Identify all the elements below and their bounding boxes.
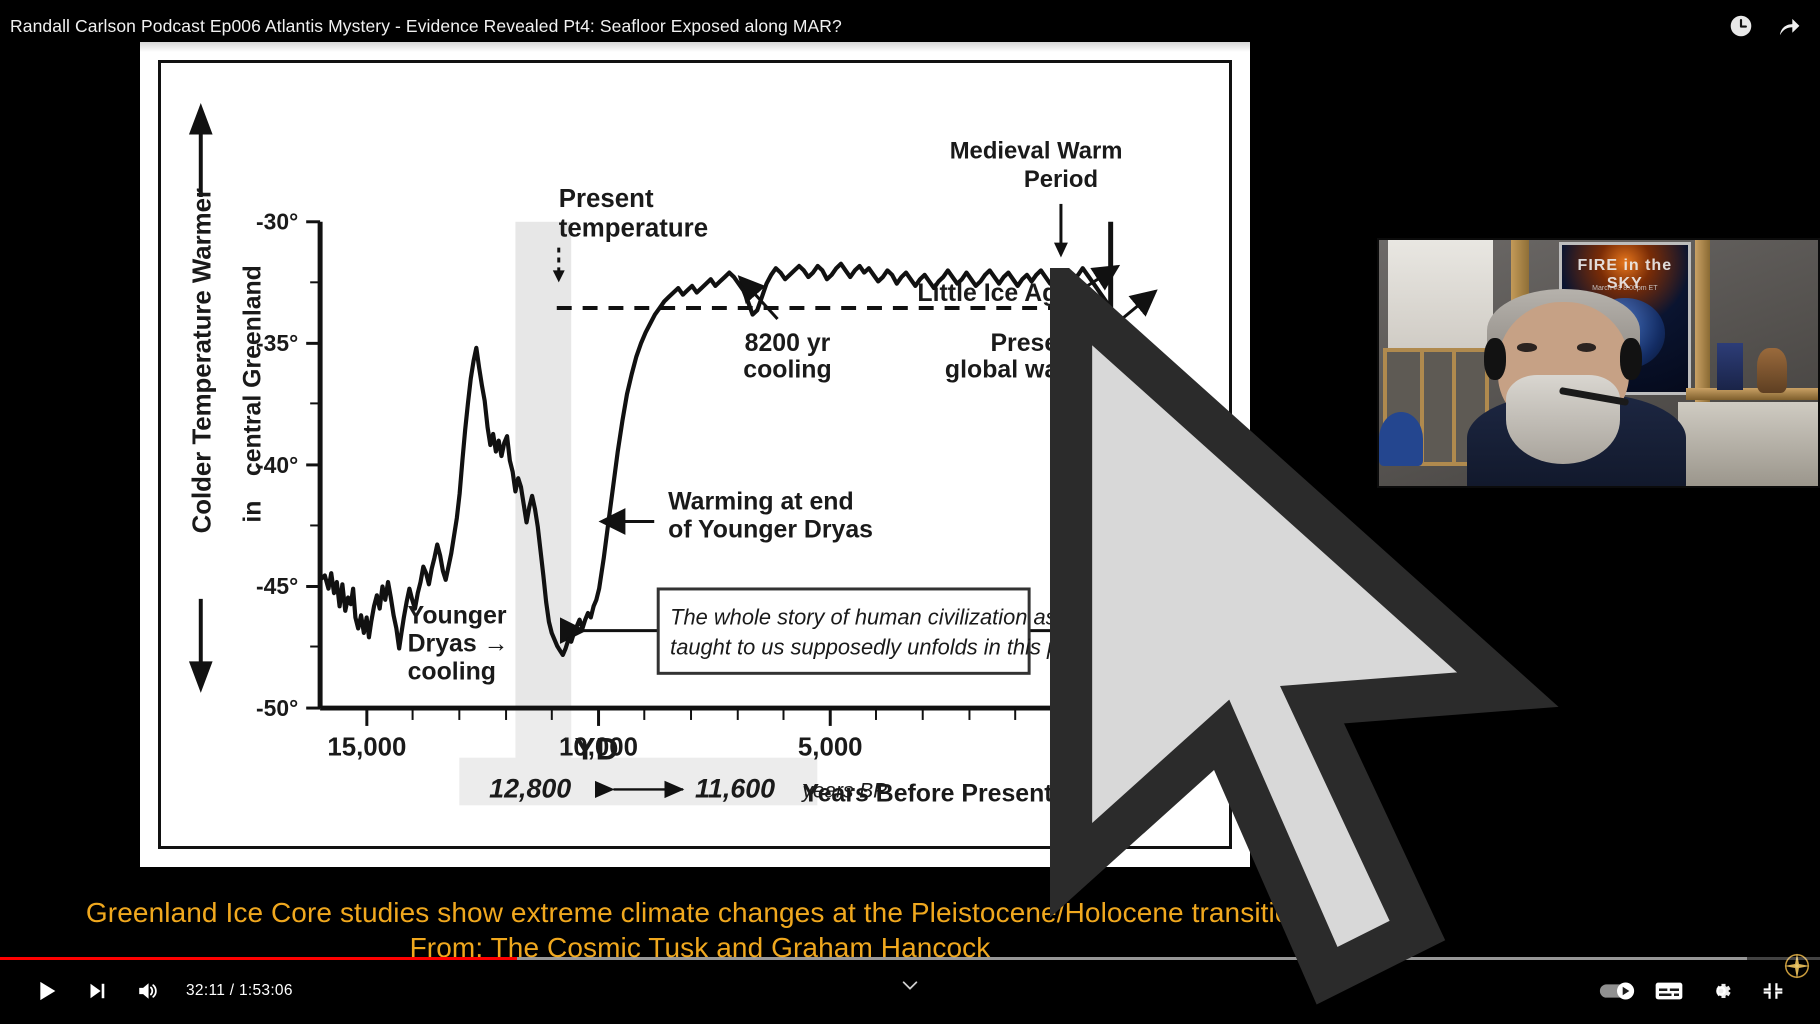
controls-right bbox=[1594, 968, 1796, 1014]
cooling-8200-line2: cooling bbox=[743, 357, 831, 384]
medieval-warm-period-annotation: Medieval Warm Period bbox=[950, 137, 1123, 257]
present-temperature-line1: Present bbox=[559, 185, 654, 213]
control-row: 32:11 / 1:53:06 bbox=[0, 966, 1820, 1016]
y-tick-label: -45° bbox=[256, 573, 298, 599]
warming-yd-line1: Warming at end bbox=[668, 489, 854, 516]
colder-arrow-icon bbox=[192, 599, 210, 687]
watch-later-icon[interactable] bbox=[1728, 13, 1754, 39]
caption-line-1: Greenland Ice Core studies show extreme … bbox=[0, 895, 1400, 930]
warmer-arrow-icon bbox=[192, 109, 210, 197]
volume-button[interactable] bbox=[124, 968, 170, 1014]
y-tick-label: -50° bbox=[256, 695, 298, 721]
settings-button[interactable] bbox=[1698, 968, 1744, 1014]
cooling-8200-line1: 8200 yr bbox=[745, 330, 831, 357]
present-temperature-line2: temperature bbox=[559, 215, 708, 243]
pgw-line2: global warming bbox=[945, 357, 1127, 384]
y-axis-title-in: in bbox=[239, 501, 266, 523]
webcam-scene: FIRE in the SKY March #3 8:00pm ET bbox=[1379, 240, 1818, 486]
mwp-line1: Medieval Warm bbox=[950, 137, 1123, 164]
subtitles-button[interactable] bbox=[1646, 968, 1692, 1014]
y-axis-title-group: Colder Temperature Warmer central Greenl… bbox=[189, 109, 267, 688]
headphone-left-icon bbox=[1484, 338, 1506, 380]
y-axis-title-main: Colder Temperature Warmer bbox=[189, 188, 217, 533]
civ-note-line1: The whole story of human civilization as… bbox=[670, 605, 1095, 630]
share-icon[interactable] bbox=[1776, 13, 1802, 39]
pgw-line1: Present bbox=[990, 330, 1081, 357]
presentation-slide: -30° -35° -40° -45° -50° bbox=[140, 42, 1250, 867]
yd-cooling-line3: cooling bbox=[408, 658, 496, 685]
headphone-right-icon bbox=[1620, 338, 1642, 380]
x-tick-label: 5,000 bbox=[798, 734, 863, 762]
civilization-note-box: The whole story of human civilization as… bbox=[584, 589, 1114, 673]
controls-left: 32:11 / 1:53:06 bbox=[24, 968, 293, 1014]
8200-yr-cooling-annotation: 8200 yr cooling bbox=[740, 277, 832, 383]
present-temperature-annotation: Present temperature bbox=[553, 185, 708, 282]
next-video-button[interactable] bbox=[74, 968, 120, 1014]
player-top-bar: Randall Carlson Podcast Ep006 Atlantis M… bbox=[0, 0, 1820, 52]
y-tick-label: -30° bbox=[256, 209, 298, 235]
yd-cooling-line2: Dryas → bbox=[408, 631, 509, 658]
speaker-webcam-overlay: FIRE in the SKY March #3 8:00pm ET bbox=[1377, 238, 1820, 488]
x-tick-marks bbox=[367, 708, 1062, 726]
video-title: Randall Carlson Podcast Ep006 Atlantis M… bbox=[10, 16, 842, 37]
youtube-fullscreen-player: Randall Carlson Podcast Ep006 Atlantis M… bbox=[0, 0, 1820, 1024]
x-tick-label: 0 bbox=[1069, 734, 1083, 762]
y-axis-title-sub: central Greenland bbox=[239, 265, 266, 476]
warming-yd-line2: of Younger Dryas bbox=[668, 516, 873, 543]
civ-note-line2: taught to us supposedly unfolds in this … bbox=[670, 634, 1114, 659]
progress-played bbox=[0, 957, 517, 960]
play-button[interactable] bbox=[24, 968, 70, 1014]
top-action-group bbox=[1728, 13, 1802, 39]
time-display: 32:11 / 1:53:06 bbox=[186, 982, 293, 1000]
greenland-ice-core-chart: -30° -35° -40° -45° -50° bbox=[161, 63, 1229, 846]
mwp-arrow-icon bbox=[1054, 243, 1068, 258]
autoplay-toggle[interactable] bbox=[1594, 968, 1640, 1014]
yd-range-from: 12,800 bbox=[489, 773, 571, 803]
player-controls: 32:11 / 1:53:06 bbox=[0, 956, 1820, 1024]
younger-dryas-band bbox=[515, 222, 571, 708]
chart-svg: -30° -35° -40° -45° -50° bbox=[161, 63, 1229, 846]
x-tick-labels: 15,000 10,000 5,000 0 bbox=[327, 734, 1083, 762]
progress-bar[interactable] bbox=[0, 956, 1820, 961]
x-axis-title: Years Before Present (BP) bbox=[803, 780, 1111, 807]
slide-frame: -30° -35° -40° -45° -50° bbox=[158, 60, 1232, 849]
warming-end-younger-dryas-annotation: Warming at end of Younger Dryas bbox=[602, 489, 873, 544]
exit-fullscreen-button[interactable] bbox=[1750, 968, 1796, 1014]
mwp-line2: Period bbox=[1024, 166, 1098, 193]
yd-cooling-line1: Younger bbox=[408, 603, 507, 630]
x-tick-label: 15,000 bbox=[327, 734, 406, 762]
younger-dryas-cooling-annotation: Younger Dryas → cooling bbox=[408, 603, 509, 686]
yd-range-to: 11,600 bbox=[695, 773, 775, 803]
yd-band-label: YD bbox=[574, 731, 618, 767]
